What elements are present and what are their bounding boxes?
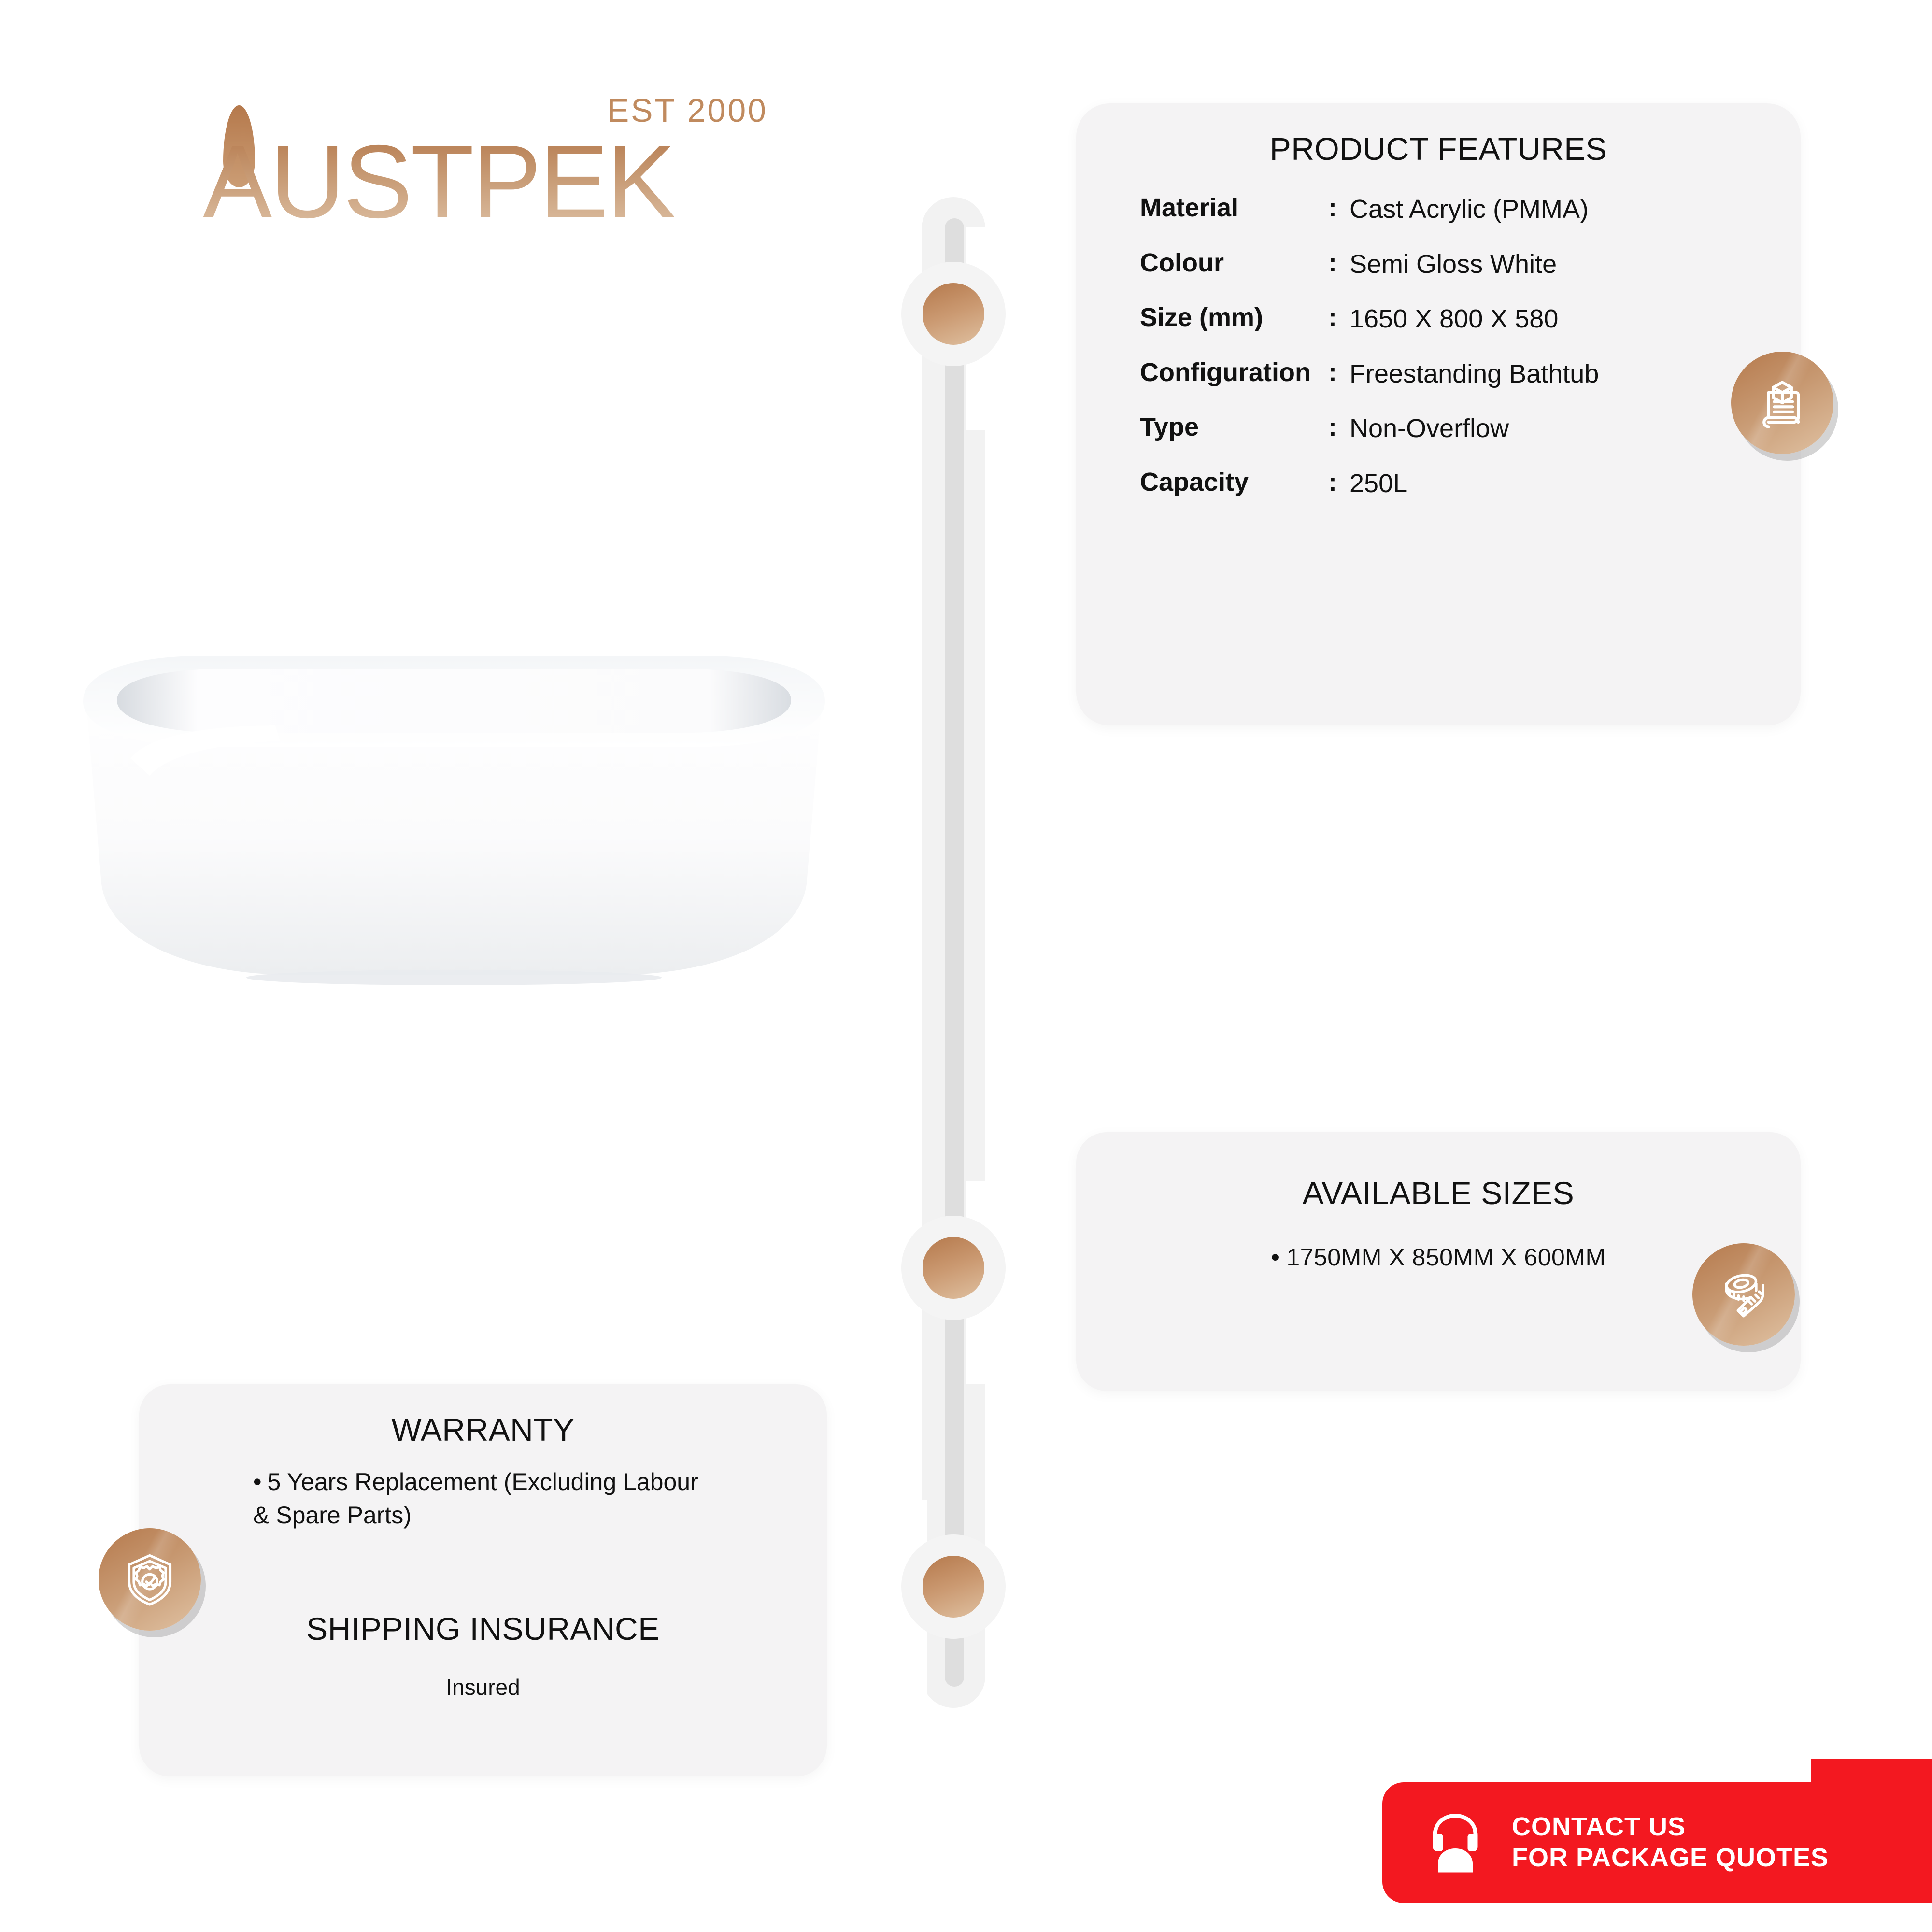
feature-label: Colour <box>1140 248 1328 277</box>
bullet-icon: • <box>253 1468 262 1495</box>
timeline-node-features <box>901 262 1006 366</box>
product-features-table: Material : Cast Acrylic (PMMA) Colour : … <box>1140 193 1768 500</box>
feature-label: Capacity <box>1140 468 1328 497</box>
product-features-title: PRODUCT FEATURES <box>1076 130 1801 167</box>
table-row: Type : Non-Overflow <box>1140 412 1768 445</box>
feature-label: Configuration <box>1140 358 1328 387</box>
infographic-canvas: EST 2000 AUSTPEK <box>0 0 1932 1932</box>
feature-value: Semi Gloss White <box>1350 248 1768 281</box>
feature-value: 1650 X 800 X 580 <box>1350 303 1768 336</box>
shipping-insurance-title: SHIPPING INSURANCE <box>139 1610 827 1647</box>
product-spec-document-icon <box>1731 352 1833 454</box>
timeline-node-core <box>923 283 984 345</box>
feature-value: Non-Overflow <box>1350 412 1768 445</box>
table-row: Size (mm) : 1650 X 800 X 580 <box>1140 303 1768 336</box>
feature-separator: : <box>1328 412 1350 441</box>
table-row: Capacity : 250L <box>1140 468 1768 500</box>
shield-check-icon <box>99 1528 201 1631</box>
timeline-node-core <box>923 1556 984 1618</box>
bullet-icon: • <box>1271 1244 1279 1271</box>
feature-label: Size (mm) <box>1140 303 1328 332</box>
feature-label: Material <box>1140 193 1328 222</box>
brand-logo: EST 2000 AUSTPEK <box>203 92 773 251</box>
list-item: 1750MM X 850MM X 600MM <box>1286 1244 1605 1271</box>
timeline-node-warranty <box>901 1534 1006 1639</box>
list-item: 5 Years Replacement (Excluding Labour & … <box>253 1468 698 1529</box>
timeline-node-sizes <box>901 1216 1006 1320</box>
table-row: Configuration : Freestanding Bathtub <box>1140 358 1768 391</box>
product-features-card: PRODUCT FEATURES Material : Cast Acrylic… <box>1076 103 1801 725</box>
feature-separator: : <box>1328 248 1350 277</box>
contact-us-text: CONTACT US FOR PACKAGE QUOTES <box>1512 1812 1829 1873</box>
feature-value: Freestanding Bathtub <box>1350 358 1620 391</box>
feature-separator: : <box>1328 303 1350 332</box>
available-sizes-list: •1750MM X 850MM X 600MM <box>1076 1243 1801 1271</box>
shipping-insurance-value: Insured <box>139 1674 827 1700</box>
contact-us-line2: FOR PACKAGE QUOTES <box>1512 1843 1829 1874</box>
warranty-card: WARRANTY •5 Years Replacement (Excluding… <box>139 1384 827 1776</box>
headset-support-icon <box>1419 1806 1492 1879</box>
timeline-node-core <box>923 1237 984 1299</box>
banner-flag-corner <box>1811 1759 1932 1817</box>
tape-measure-icon <box>1692 1243 1795 1346</box>
feature-value: Cast Acrylic (PMMA) <box>1350 193 1768 226</box>
feature-separator: : <box>1328 358 1350 387</box>
brand-name: AUSTPEK <box>203 129 674 233</box>
warranty-list: •5 Years Replacement (Excluding Labour &… <box>253 1465 717 1532</box>
feature-value: 250L <box>1350 468 1768 500</box>
warranty-title: WARRANTY <box>139 1411 827 1448</box>
product-image-bathtub <box>53 613 855 995</box>
contact-us-line1: CONTACT US <box>1512 1812 1829 1843</box>
timeline-track-inner <box>945 218 964 1687</box>
feature-separator: : <box>1328 193 1350 222</box>
table-row: Material : Cast Acrylic (PMMA) <box>1140 193 1768 226</box>
available-sizes-title: AVAILABLE SIZES <box>1076 1175 1801 1211</box>
contact-us-banner[interactable]: CONTACT US FOR PACKAGE QUOTES <box>1382 1782 1932 1903</box>
feature-separator: : <box>1328 468 1350 497</box>
available-sizes-card: AVAILABLE SIZES •1750MM X 850MM X 600MM <box>1076 1132 1801 1391</box>
table-row: Colour : Semi Gloss White <box>1140 248 1768 281</box>
feature-label: Type <box>1140 412 1328 441</box>
